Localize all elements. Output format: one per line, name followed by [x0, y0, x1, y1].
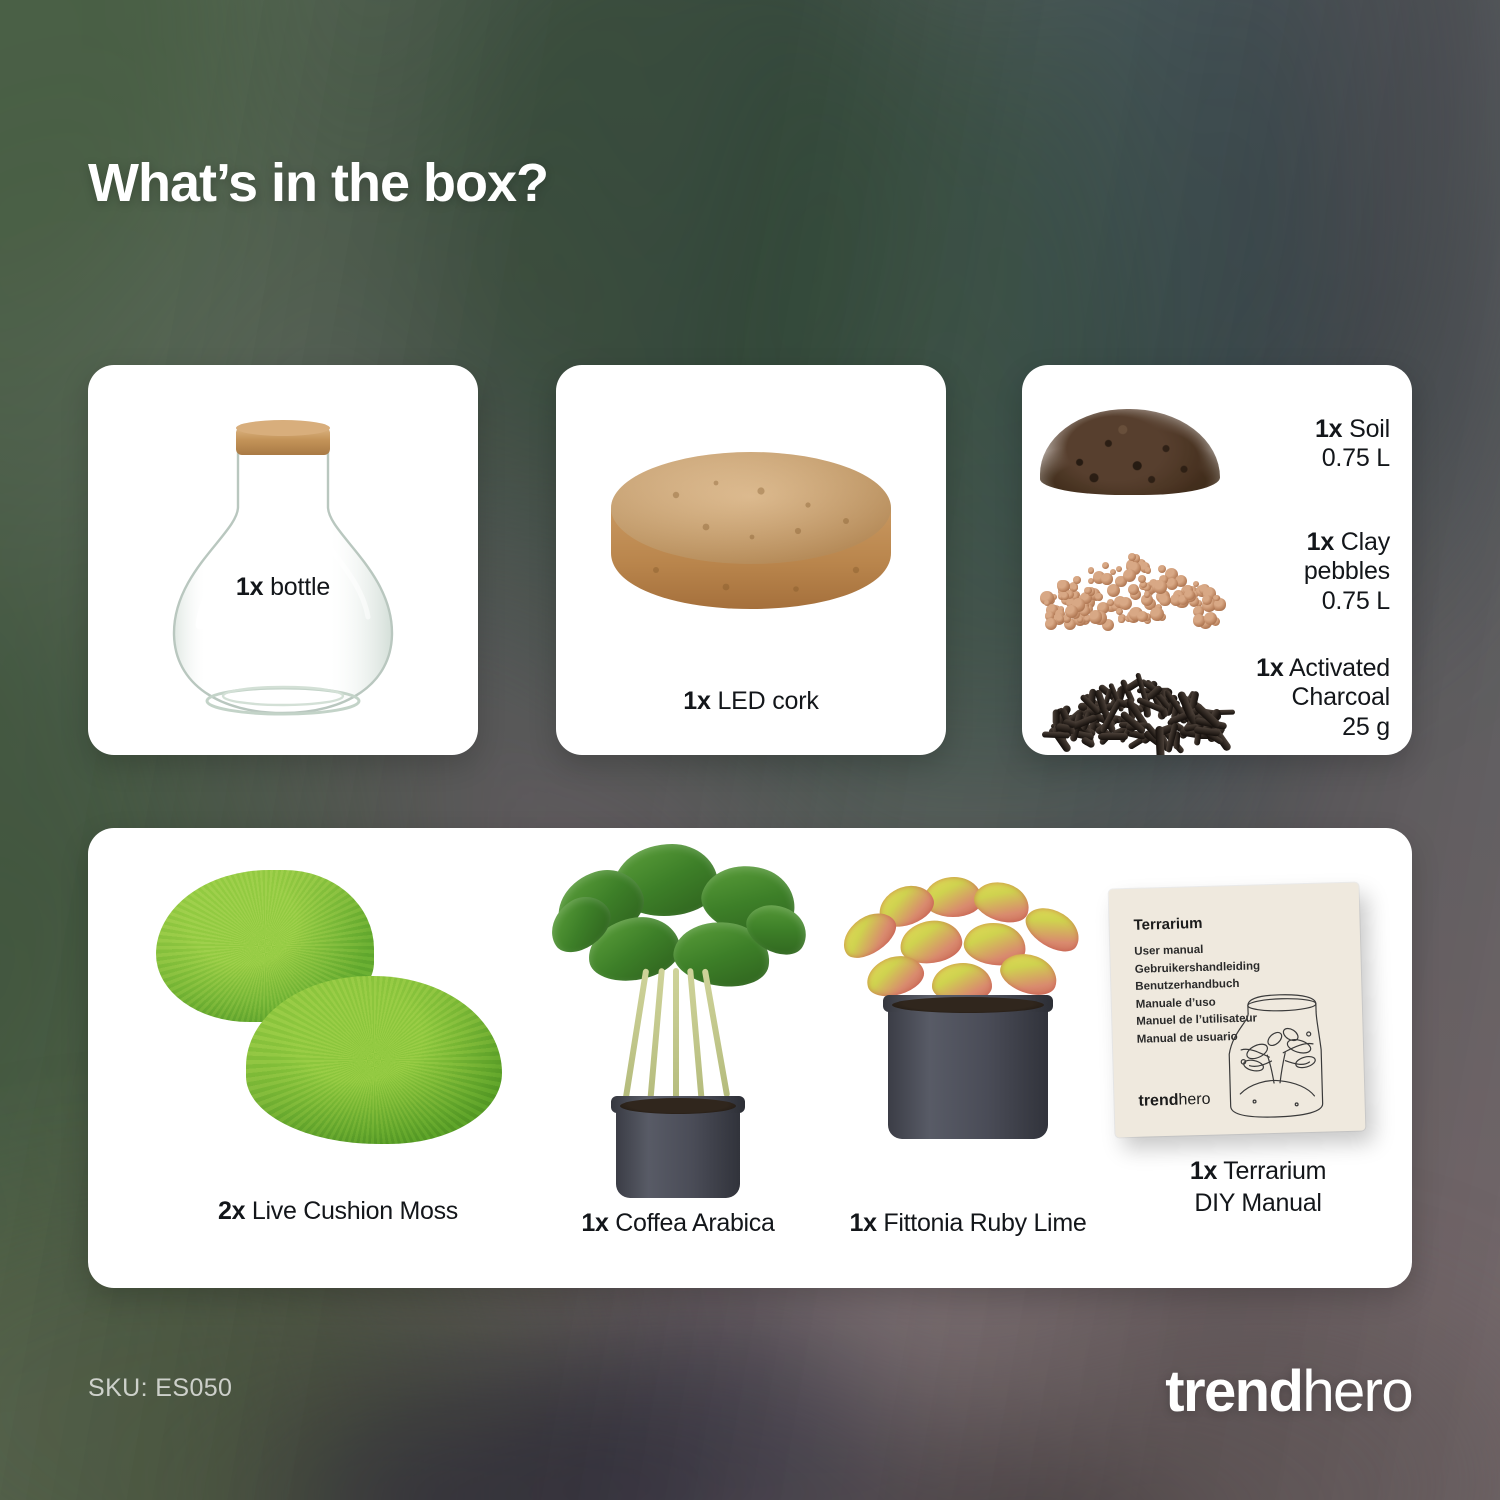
- clay-qty: 1x: [1307, 528, 1334, 556]
- clay-pebble: [1072, 585, 1078, 591]
- soil-amount: 0.75 L: [1322, 444, 1390, 472]
- charcoal-qty: 1x: [1256, 654, 1283, 682]
- clay-pebble: [1073, 576, 1081, 584]
- card-plants-and-manual[interactable]: 2x Live Cushion Moss: [88, 828, 1412, 1288]
- clay-pebble: [1150, 607, 1164, 621]
- bottle-image: [88, 365, 478, 755]
- soil-label: 1x Soil 0.75 L: [1234, 415, 1412, 474]
- clay-pebble: [1044, 600, 1050, 606]
- charcoal-name-2: Charcoal: [1292, 683, 1390, 711]
- charcoal-stick: [1098, 733, 1129, 739]
- product-contents-page: What’s in the box?: [0, 0, 1500, 1500]
- bottle-name: bottle: [270, 573, 330, 601]
- brand-logo: trendhero: [1165, 1358, 1412, 1425]
- clay-pebble: [1116, 566, 1122, 572]
- clay-pebble: [1123, 569, 1137, 583]
- cushion-moss-label: 2x Live Cushion Moss: [218, 1196, 458, 1228]
- soil-pile-icon: [1022, 389, 1234, 499]
- sku-text: SKU: ES050: [88, 1374, 232, 1403]
- clay-pebble: [1084, 587, 1092, 595]
- led-cork-label: 1x LED cork: [556, 687, 946, 716]
- brand-bold: trend: [1165, 1359, 1302, 1424]
- clay-pebble: [1101, 573, 1112, 584]
- item-fittonia-ruby-lime: 1x Fittonia Ruby Lime: [808, 873, 1128, 1268]
- led-cork-qty: 1x: [683, 687, 710, 715]
- manual-cover-sketch: [1207, 963, 1361, 1127]
- clay-pebble: [1204, 612, 1217, 625]
- coffea-qty: 1x: [581, 1209, 608, 1237]
- coffea-name: Coffea Arabica: [615, 1209, 774, 1237]
- clay-pebbles-label: 1x Clay pebbles 0.75 L: [1234, 528, 1412, 617]
- bottle-label: 1x bottle: [88, 573, 478, 602]
- activated-charcoal-icon: [1022, 643, 1234, 753]
- clay-pebble: [1202, 595, 1212, 605]
- page-title: What’s in the box?: [88, 152, 548, 214]
- card-bottle[interactable]: 1x bottle: [88, 365, 478, 755]
- manual-logo-light: hero: [1178, 1091, 1210, 1109]
- charcoal-label: 1x Activated Charcoal 25 g: [1234, 654, 1412, 743]
- clay-pebble: [1056, 615, 1064, 623]
- clay-name: Clay: [1341, 528, 1390, 556]
- bottle-qty: 1x: [236, 573, 263, 601]
- charcoal-name: Activated: [1289, 654, 1390, 682]
- fittonia-label: 1x Fittonia Ruby Lime: [850, 1208, 1087, 1240]
- led-cork-name: LED cork: [717, 687, 818, 715]
- clay-pebble: [1118, 617, 1125, 624]
- clay-pebble: [1102, 562, 1109, 569]
- card-led-cork[interactable]: 1x LED cork: [556, 365, 946, 755]
- charcoal-amount: 25 g: [1342, 713, 1390, 741]
- clay-pebbles-icon: [1022, 517, 1234, 627]
- manual-name-2: DIY Manual: [1194, 1189, 1321, 1217]
- soil-qty: 1x: [1315, 415, 1342, 443]
- media-row-clay-pebbles: 1x Clay pebbles 0.75 L: [1022, 517, 1412, 627]
- clay-pebble: [1089, 610, 1102, 623]
- manual-logo-bold: trend: [1138, 1092, 1178, 1110]
- clay-pebble: [1088, 567, 1095, 574]
- clay-pebble: [1116, 608, 1123, 615]
- fittonia-qty: 1x: [850, 1209, 877, 1237]
- coffea-arabica-image: [528, 838, 828, 1268]
- clay-name-2: pebbles: [1304, 557, 1390, 585]
- clay-pebble: [1145, 567, 1152, 574]
- moss-name: Live Cushion Moss: [252, 1197, 458, 1225]
- clay-pebble: [1095, 593, 1103, 601]
- diy-manual-label: 1x Terrarium DIY Manual: [1123, 1156, 1393, 1219]
- brand-light: hero: [1302, 1359, 1412, 1424]
- clay-pebble: [1144, 591, 1151, 598]
- manual-cover-title: Terrarium: [1133, 915, 1202, 934]
- moss-qty: 2x: [218, 1197, 245, 1225]
- clay-pebble: [1107, 599, 1114, 606]
- clay-amount: 0.75 L: [1322, 587, 1390, 615]
- item-diy-manual: Terrarium User manualGebruikershandleidi…: [1098, 868, 1412, 1268]
- charcoal-stick: [1081, 736, 1097, 749]
- card-growing-media[interactable]: 1x Soil 0.75 L 1x Clay pebbles 0.75 L 1x: [1022, 365, 1412, 755]
- charcoal-stick: [1155, 725, 1165, 755]
- diy-manual-image: Terrarium User manualGebruikershandleidi…: [1109, 883, 1366, 1138]
- manual-qty: 1x: [1190, 1157, 1217, 1185]
- manual-name: Terrarium: [1223, 1157, 1326, 1185]
- soil-name: Soil: [1349, 415, 1390, 443]
- fittonia-name: Fittonia Ruby Lime: [883, 1209, 1086, 1237]
- clay-pebble: [1061, 592, 1069, 600]
- item-cushion-moss: 2x Live Cushion Moss: [128, 848, 548, 1268]
- clay-pebble: [1088, 578, 1094, 584]
- item-coffea-arabica: 1x Coffea Arabica: [528, 838, 828, 1268]
- coffea-arabica-label: 1x Coffea Arabica: [581, 1208, 774, 1240]
- media-row-soil: 1x Soil 0.75 L: [1022, 389, 1412, 499]
- clay-pebble: [1065, 605, 1078, 618]
- manual-cover-logo: trendhero: [1138, 1091, 1211, 1111]
- clay-pebble: [1128, 584, 1139, 595]
- clay-pebble: [1193, 581, 1199, 587]
- media-row-charcoal: 1x Activated Charcoal 25 g: [1022, 643, 1412, 753]
- clay-pebble: [1158, 565, 1166, 573]
